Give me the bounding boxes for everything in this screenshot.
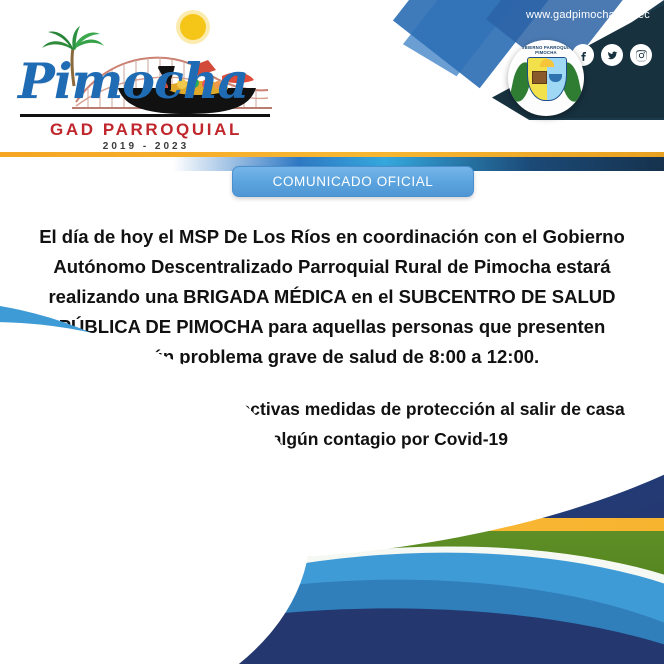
seal-text: GOBIERNO PARROQUIAL PIMOCHA [508, 45, 584, 55]
seal-house-icon [532, 71, 547, 84]
logo-divider [20, 114, 270, 117]
poster-header: www.gadpimocha.org.ec GOBIERNO PARROQUIA… [0, 0, 664, 152]
seal-sun-icon [540, 59, 554, 67]
social-links [572, 44, 652, 66]
logo-years: 2019 - 2023 [12, 141, 280, 152]
instagram-icon[interactable] [630, 44, 652, 66]
announcement-poster: www.gadpimocha.org.ec GOBIERNO PARROQUIA… [0, 0, 664, 664]
status-badge-label: COMUNICADO OFICIAL [273, 174, 434, 189]
seal-boat-icon [549, 74, 562, 82]
logo-subtitle: GAD PARROQUIAL [12, 120, 280, 140]
twitter-icon[interactable] [601, 44, 623, 66]
website-url[interactable]: www.gadpimocha.org.ec [526, 9, 650, 21]
signature-role: Presidente [146, 620, 264, 642]
status-badge: COMUNICADO OFICIAL [232, 166, 474, 197]
logo-wordmark: Pimocha [18, 52, 248, 110]
municipal-seal: GOBIERNO PARROQUIAL PIMOCHA [508, 40, 584, 116]
pimocha-logo: Pimocha GAD PARROQUIAL 2019 - 2023 [12, 8, 312, 148]
president-signature-logo: ALFONSO CARANQUI Presidente [28, 562, 278, 654]
